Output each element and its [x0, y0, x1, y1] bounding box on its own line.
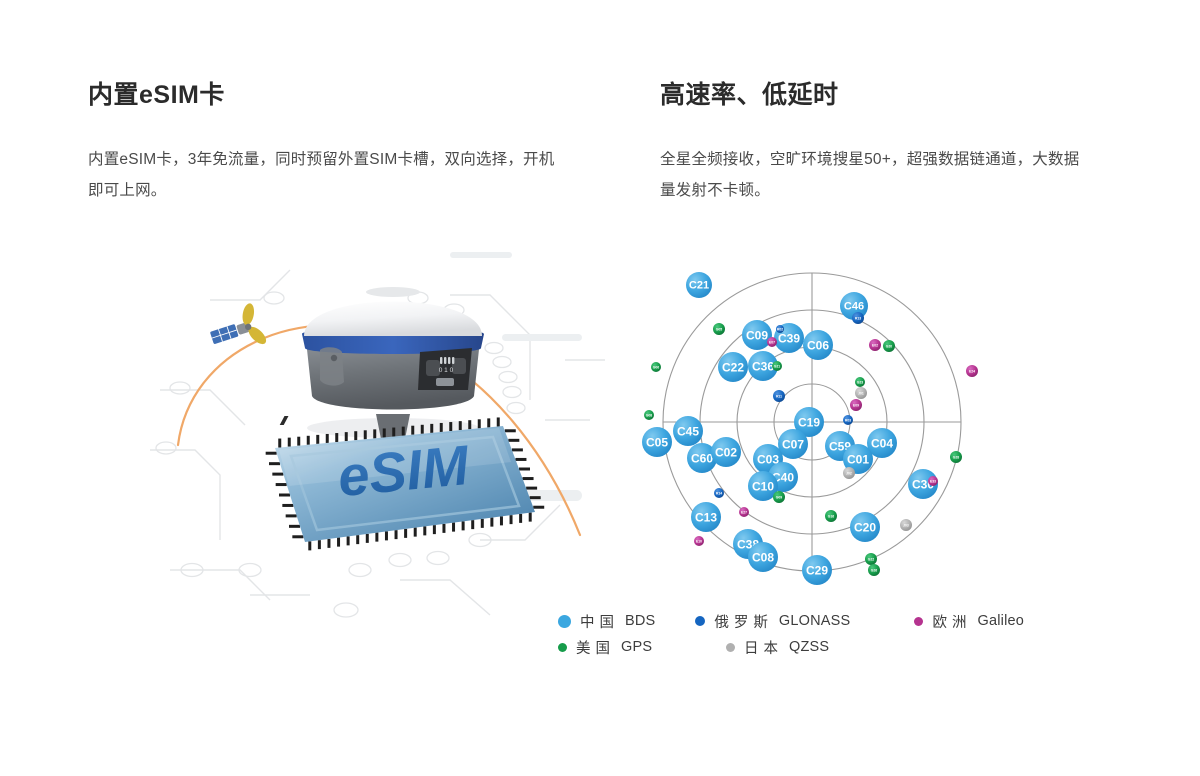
satellite-marker[interactable]: E02 — [869, 339, 881, 351]
satellite-dot — [673, 416, 703, 446]
legend-system-glonass: GLONASS — [779, 613, 851, 629]
satellite-dot — [714, 488, 724, 498]
satellite-dot — [843, 467, 855, 479]
legend-region-galileo: 欧洲 — [932, 611, 971, 632]
legend-dot-bds — [558, 615, 571, 628]
satellite-dot — [644, 410, 654, 420]
legend-item-galileo: 欧洲 Galileo — [914, 611, 1078, 632]
constellation-legend: 中国 BDS 俄罗斯 GLONASS 欧洲 Galileo 美国 GPS 日本 … — [558, 608, 1078, 660]
satellite-dot — [772, 361, 782, 371]
satellite-dot — [852, 312, 864, 324]
satellite-dot — [718, 352, 748, 382]
satellite-dot — [855, 377, 865, 387]
satellite-marker[interactable]: C13 — [691, 502, 721, 532]
satellite-dot — [850, 399, 862, 411]
feature-title-speed: 高速率、低延时 — [660, 82, 1090, 110]
gnss-skyplot[interactable]: C21C46C09C39C06C22C36C19C05C45C07C60C02C… — [640, 250, 1020, 590]
satellite-marker[interactable]: J02 — [843, 467, 855, 479]
esim-illustration: 0 1 0 — [150, 240, 610, 620]
satellite-marker[interactable]: G08 — [644, 410, 654, 420]
satellite-dot — [855, 387, 867, 399]
legend-region-gps: 美国 — [576, 637, 615, 658]
satellite-marker[interactable]: G21 — [772, 361, 782, 371]
satellite-marker[interactable]: C08 — [748, 542, 778, 572]
satellite-dot — [778, 429, 808, 459]
satellite-marker[interactable]: E10 — [694, 536, 704, 546]
satellite-marker[interactable]: G23 — [855, 377, 865, 387]
satellite-marker[interactable]: C20 — [850, 512, 880, 542]
feature-block-esim: 内置eSIM卡 内置eSIM卡，3年免流量，同时预留外置SIM卡槽，双向选择，开… — [88, 82, 558, 206]
satellite-dot — [686, 272, 712, 298]
legend-system-bds: BDS — [625, 613, 655, 629]
legend-region-qzss: 日本 — [744, 637, 783, 658]
satellite-marker[interactable]: R02 — [776, 325, 784, 333]
satellite-dot — [883, 340, 895, 352]
satellite-marker[interactable]: C06 — [803, 330, 833, 360]
legend-system-qzss: QZSS — [789, 639, 829, 655]
satellite-marker[interactable]: G22 — [865, 553, 877, 565]
satellite-marker[interactable]: J03 — [900, 519, 912, 531]
satellite-dot — [776, 325, 784, 333]
satellite-marker[interactable]: E33 — [928, 476, 938, 486]
legend-system-gps: GPS — [621, 639, 652, 655]
satellite-marker[interactable]: G28 — [950, 451, 962, 463]
satellite-dot — [869, 339, 881, 351]
satellite-dot — [711, 437, 741, 467]
legend-dot-gps — [558, 643, 567, 652]
satellite-dot — [966, 365, 978, 377]
satellite-marker[interactable]: G16 — [825, 510, 837, 522]
satellite-marker[interactable]: G26 — [868, 564, 880, 576]
satellite-marker[interactable]: R14 — [714, 488, 724, 498]
feature-desc-speed: 全星全频接收，空旷环境搜星50+，超强数据链通道，大数据量发射不卡顿。 — [660, 144, 1090, 206]
satellite-dot — [694, 536, 704, 546]
satellite-dot — [742, 320, 772, 350]
feature-desc-esim: 内置eSIM卡，3年免流量，同时预留外置SIM卡槽，双向选择，开机即可上网。 — [88, 144, 558, 206]
esim-chip-label: eSIM — [335, 433, 472, 508]
satellite-dot — [767, 337, 777, 347]
satellite-dot — [843, 415, 853, 425]
legend-item-bds: 中国 BDS — [558, 611, 695, 632]
satellite-marker[interactable]: E27 — [739, 507, 749, 517]
satellite-dot — [748, 542, 778, 572]
satellite-marker[interactable]: C22 — [718, 352, 748, 382]
satellite-dot — [773, 491, 785, 503]
satellite-marker[interactable]: E07 — [767, 337, 777, 347]
satellite-marker[interactable]: C09 — [742, 320, 772, 350]
satellite-dot — [739, 507, 749, 517]
satellite-dot — [825, 510, 837, 522]
satellite-marker[interactable]: C02 — [711, 437, 741, 467]
satellite-dot — [865, 553, 877, 565]
satellite-dot — [651, 362, 661, 372]
legend-row: 中国 BDS 俄罗斯 GLONASS 欧洲 Galileo — [558, 608, 1078, 634]
satellite-marker[interactable]: E24 — [966, 365, 978, 377]
satellite-marker[interactable]: G09 — [773, 491, 785, 503]
esim-chip-icon: eSIM — [235, 400, 555, 580]
legend-dot-qzss — [726, 643, 735, 652]
satellite-marker[interactable]: R13 — [852, 312, 864, 324]
satellite-marker[interactable]: E09 — [850, 399, 862, 411]
satellite-dot — [900, 519, 912, 531]
satellite-marker[interactable]: R03 — [843, 415, 853, 425]
legend-system-galileo: Galileo — [977, 613, 1024, 629]
satellite-marker[interactable]: R11 — [773, 390, 785, 402]
legend-item-gps: 美国 GPS — [558, 637, 726, 658]
satellite-marker[interactable]: G20 — [883, 340, 895, 352]
satellite-marker[interactable]: G05 — [713, 323, 725, 335]
satellite-marker[interactable]: J01 — [855, 387, 867, 399]
satellite-dot — [713, 323, 725, 335]
legend-dot-glonass — [695, 616, 705, 626]
feature-block-speed: 高速率、低延时 全星全频接收，空旷环境搜星50+，超强数据链通道，大数据量发射不… — [660, 82, 1090, 206]
legend-region-glonass: 俄罗斯 — [714, 611, 773, 632]
satellite-dot — [802, 555, 832, 585]
feature-title-esim: 内置eSIM卡 — [88, 82, 558, 110]
satellite-marker[interactable]: C21 — [686, 272, 712, 298]
satellite-dot — [850, 512, 880, 542]
satellite-marker[interactable]: C45 — [673, 416, 703, 446]
satellite-marker[interactable]: G06 — [651, 362, 661, 372]
legend-row: 美国 GPS 日本 QZSS — [558, 634, 1078, 660]
skyplot-canvas: C21C46C09C39C06C22C36C19C05C45C07C60C02C… — [640, 250, 1020, 590]
satellite-dot — [928, 476, 938, 486]
satellite-dot — [642, 427, 672, 457]
satellite-dot — [803, 330, 833, 360]
satellite-dot — [691, 502, 721, 532]
satellite-dot — [868, 564, 880, 576]
satellite-marker[interactable]: C07 — [778, 429, 808, 459]
satellite-dot — [950, 451, 962, 463]
satellite-marker[interactable]: C05 — [642, 427, 672, 457]
satellite-dot — [773, 390, 785, 402]
satellite-marker[interactable]: C29 — [802, 555, 832, 585]
svg-text:0 1 0: 0 1 0 — [439, 367, 454, 374]
legend-item-qzss: 日本 QZSS — [726, 637, 994, 658]
legend-dot-galileo — [914, 617, 923, 626]
satellite-marker-layer: C21C46C09C39C06C22C36C19C05C45C07C60C02C… — [642, 272, 978, 585]
legend-region-bds: 中国 — [580, 611, 619, 632]
legend-item-glonass: 俄罗斯 GLONASS — [695, 611, 914, 632]
